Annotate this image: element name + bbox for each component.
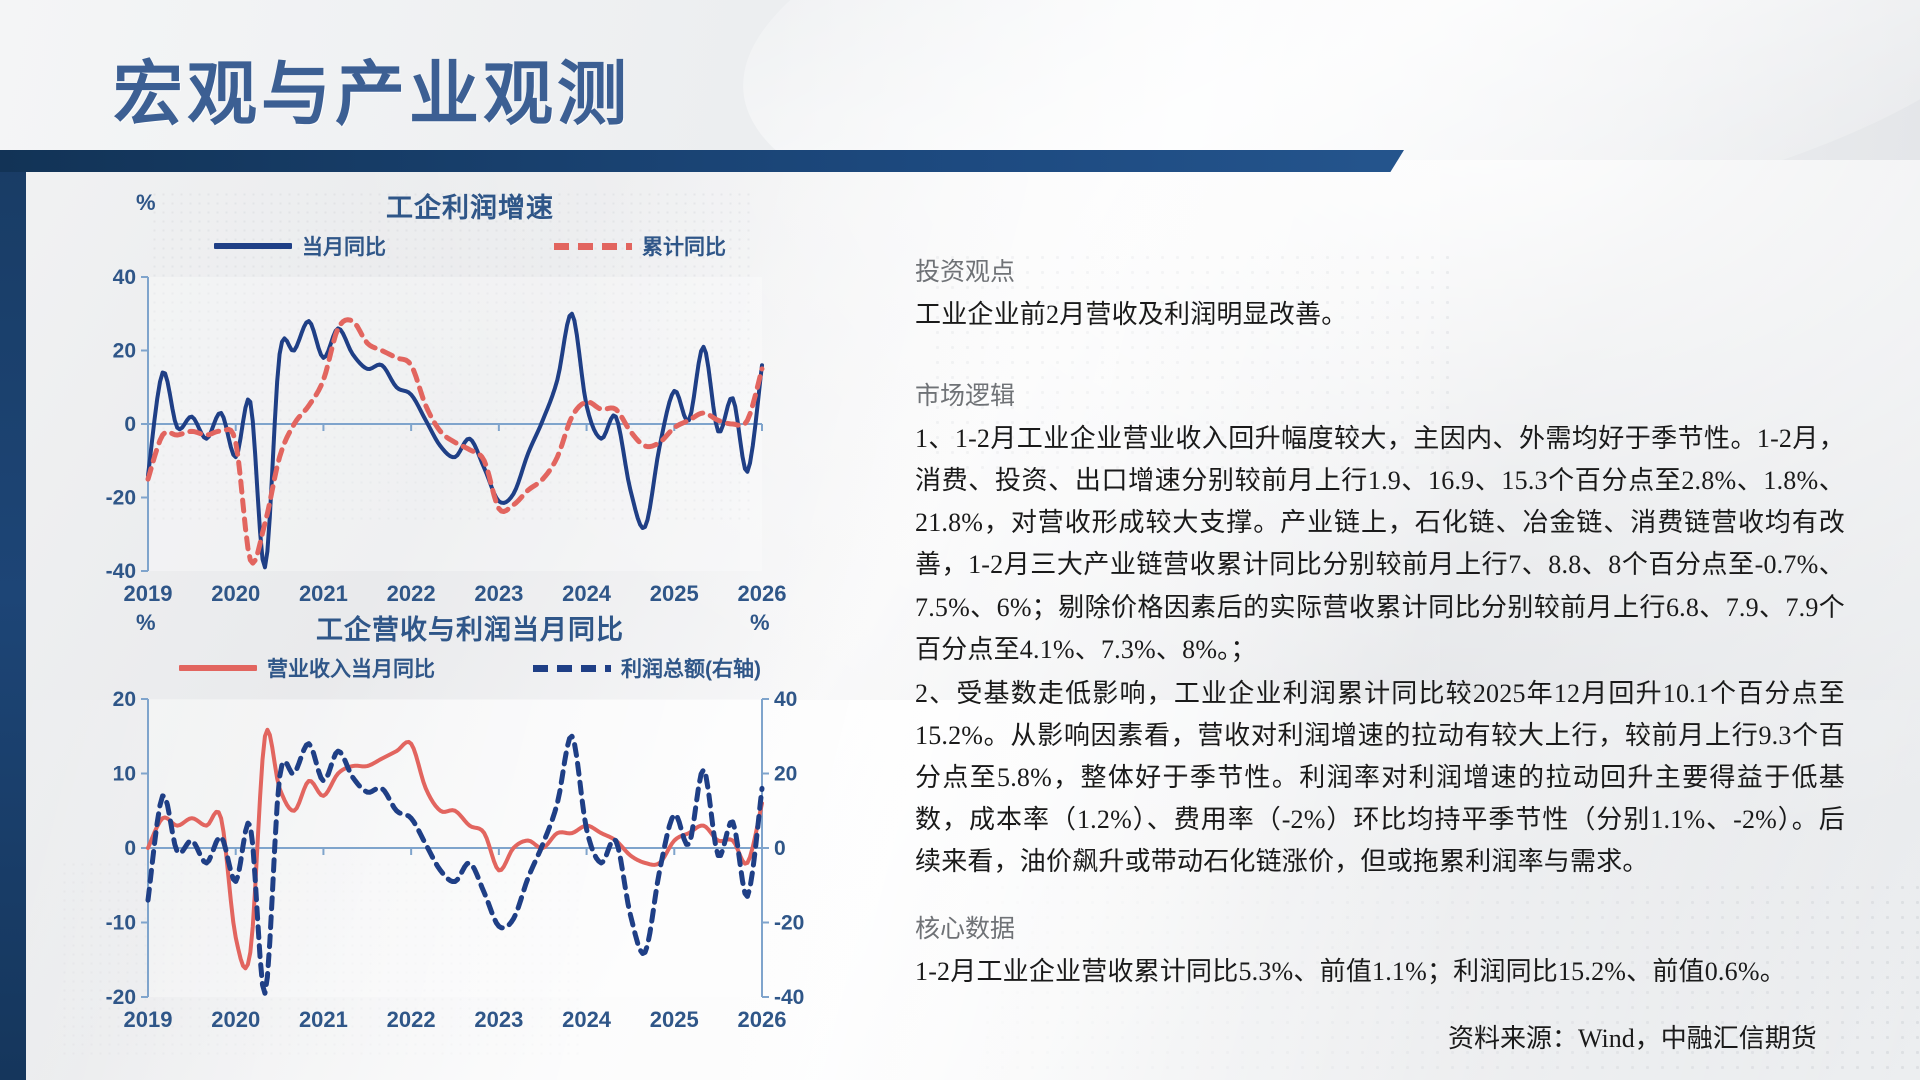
legend-label-profit-total: 利润总额(右轴) xyxy=(621,653,761,683)
svg-text:2023: 2023 xyxy=(474,1007,523,1032)
svg-text:20: 20 xyxy=(113,688,136,711)
legend-item-revenue: 营业收入当月同比 xyxy=(179,653,435,683)
section-head-investment-view: 投资观点 xyxy=(915,252,1845,288)
slide-page: 宏观与产业观测 % 工企利润增速 当月同比 累计同比 40200-20-4020… xyxy=(0,0,1920,1080)
svg-text:-40: -40 xyxy=(106,560,136,583)
svg-text:2026: 2026 xyxy=(738,1007,787,1032)
svg-text:2026: 2026 xyxy=(738,581,787,606)
solid-line-swatch-icon xyxy=(179,665,257,671)
solid-line-swatch-icon xyxy=(214,243,292,249)
legend-item-profit-total: 利润总额(右轴) xyxy=(533,653,761,683)
chart1-unit-label: % xyxy=(136,190,156,216)
legend-item-cumulative: 累计同比 xyxy=(554,231,726,261)
svg-text:2024: 2024 xyxy=(562,581,612,606)
chart-profit-growth: % 工企利润增速 当月同比 累计同比 40200-20-402019202020… xyxy=(90,186,850,606)
svg-text:20: 20 xyxy=(113,340,136,363)
svg-text:2025: 2025 xyxy=(650,581,699,606)
svg-text:-20: -20 xyxy=(774,912,804,935)
core-data-body: 1-2月工业企业营收累计同比5.3%、前值1.1%；利润同比15.2%、前值0.… xyxy=(915,951,1845,993)
svg-text:0: 0 xyxy=(774,837,786,860)
dashed-line-swatch-icon xyxy=(554,243,632,250)
section-head-core-data: 核心数据 xyxy=(915,909,1845,945)
market-logic-paragraph-2: 2、受基数走低影响，工业企业利润累计同比较2025年12月回升10.1个百分点至… xyxy=(915,673,1845,884)
svg-text:2022: 2022 xyxy=(387,581,436,606)
source-note: 资料来源：Wind，中融汇信期货 xyxy=(1448,1018,1817,1055)
svg-text:-40: -40 xyxy=(774,986,804,1009)
chart1-plot: 40200-20-4020192020202120222023202420252… xyxy=(90,263,850,613)
svg-text:2022: 2022 xyxy=(387,1007,436,1032)
svg-text:2023: 2023 xyxy=(474,581,523,606)
page-title: 宏观与产业观测 xyxy=(113,38,631,139)
svg-text:-20: -20 xyxy=(106,986,136,1009)
dashed-line-swatch-icon xyxy=(533,665,611,672)
legend-item-current-month: 当月同比 xyxy=(214,231,386,261)
chart2-unit-label-right: % xyxy=(750,610,770,636)
svg-text:2019: 2019 xyxy=(124,1007,173,1032)
legend-label-revenue: 营业收入当月同比 xyxy=(267,653,435,683)
legend-label-current-month: 当月同比 xyxy=(302,231,386,261)
title-underline-bar xyxy=(0,150,1378,172)
charts-column: % 工企利润增速 当月同比 累计同比 40200-20-402019202020… xyxy=(90,186,870,1038)
svg-text:2021: 2021 xyxy=(299,581,348,606)
chart2-title: 工企营收与利润当月同比 xyxy=(90,608,850,647)
svg-text:0: 0 xyxy=(124,837,136,860)
svg-text:2021: 2021 xyxy=(299,1007,348,1032)
chart-revenue-profit: % % 工企营收与利润当月同比 营业收入当月同比 利润总额(右轴) 20100-… xyxy=(90,608,850,1038)
chart2-unit-label-left: % xyxy=(136,610,156,636)
legend-label-cumulative: 累计同比 xyxy=(642,231,726,261)
chart2-plot: 20100-10-2040200-20-40201920202021202220… xyxy=(90,685,850,1045)
svg-text:2024: 2024 xyxy=(562,1007,612,1032)
svg-text:-20: -20 xyxy=(106,487,136,510)
svg-text:2025: 2025 xyxy=(650,1007,699,1032)
svg-text:2019: 2019 xyxy=(124,581,173,606)
svg-text:40: 40 xyxy=(113,266,136,289)
svg-text:2020: 2020 xyxy=(211,1007,260,1032)
svg-text:2020: 2020 xyxy=(211,581,260,606)
chart1-title: 工企利润增速 xyxy=(90,186,850,225)
spacer xyxy=(915,883,1845,909)
market-logic-paragraph-1: 1、1-2月工业企业营业收入回升幅度较大，主因内、外需均好于季节性。1-2月，消… xyxy=(915,418,1845,671)
section-head-market-logic: 市场逻辑 xyxy=(915,376,1845,412)
svg-text:40: 40 xyxy=(774,688,797,711)
investment-view-body: 工业企业前2月营收及利润明显改善。 xyxy=(915,294,1845,336)
svg-text:-10: -10 xyxy=(106,912,136,935)
header-swoosh xyxy=(721,0,1920,160)
commentary-column: 投资观点 工业企业前2月营收及利润明显改善。 市场逻辑 1、1-2月工业企业营业… xyxy=(915,252,1845,993)
svg-text:20: 20 xyxy=(774,763,797,786)
chart2-legend: 营业收入当月同比 利润总额(右轴) xyxy=(90,651,850,685)
spacer xyxy=(915,336,1845,376)
svg-text:10: 10 xyxy=(113,763,136,786)
chart1-legend: 当月同比 累计同比 xyxy=(90,229,850,263)
svg-text:0: 0 xyxy=(124,413,136,436)
